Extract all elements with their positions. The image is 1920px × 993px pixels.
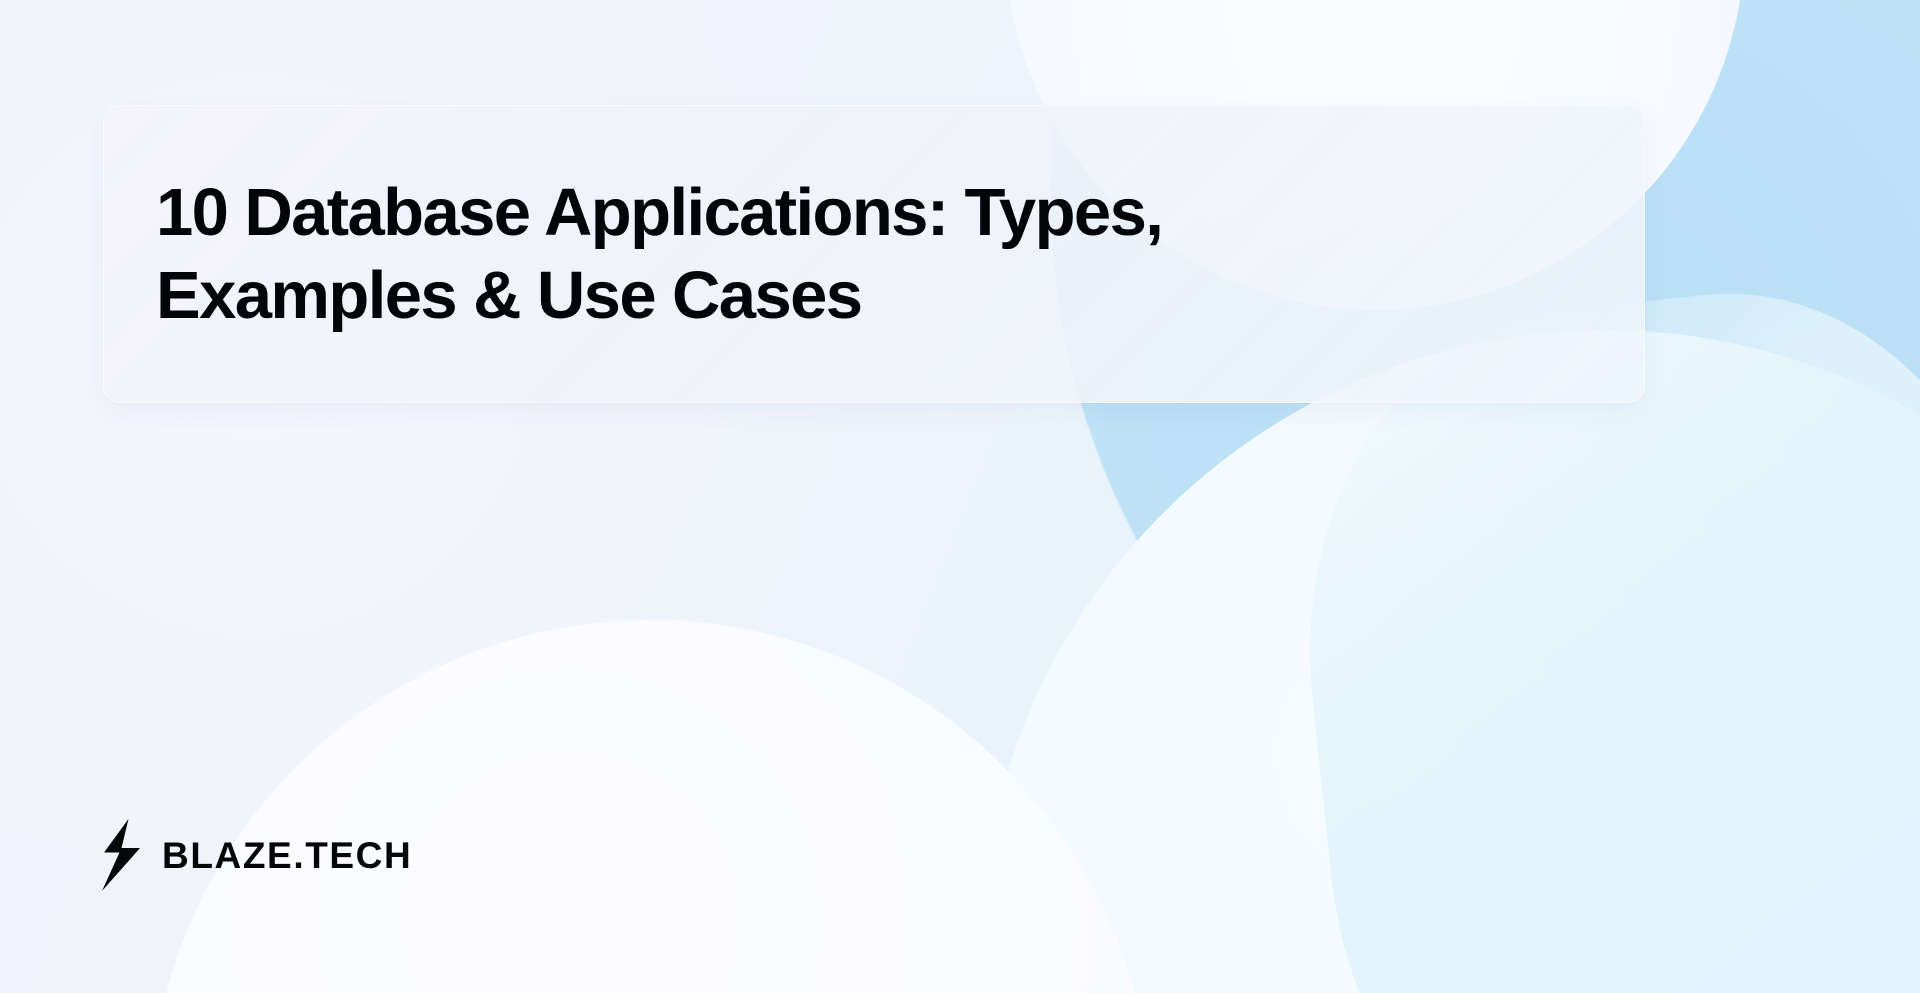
page-title-line-2: Examples & Use Cases: [156, 258, 861, 333]
background-blob-pale-center: [980, 330, 1920, 993]
social-card-canvas: 10 Database Applications: Types,Examples…: [0, 0, 1920, 993]
title-card: 10 Database Applications: Types,Examples…: [103, 105, 1645, 403]
page-title: 10 Database Applications: Types,Examples…: [104, 171, 1644, 337]
brand-logo[interactable]: BLAZE.TECH: [100, 818, 412, 892]
brand-wordmark: BLAZE.TECH: [162, 837, 412, 874]
page-title-line-1: 10 Database Applications: Types,: [156, 175, 1162, 250]
background-blob-white-bottom-left: [150, 620, 1150, 993]
lightning-bolt-icon: [100, 819, 142, 891]
